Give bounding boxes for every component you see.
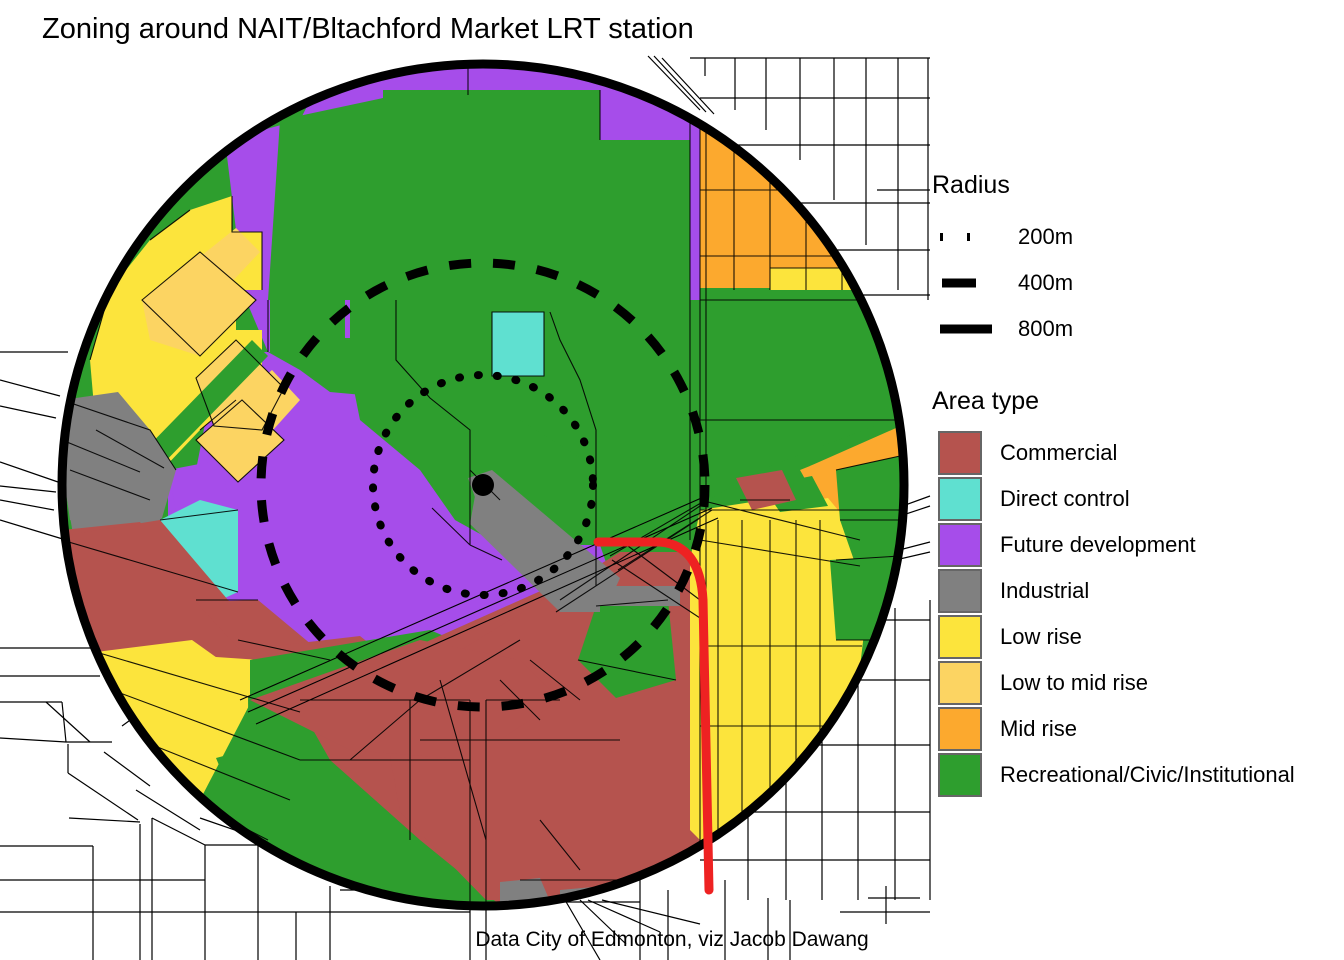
radius-legend-item-800m[interactable]: 800m	[932, 306, 1332, 352]
swatch-direct-control	[938, 477, 982, 521]
radius-legend: Radius 200m 400m	[932, 170, 1332, 352]
area-legend-item-recreational[interactable]: Recreational/Civic/Institutional	[932, 752, 1332, 798]
area-legend-label-recreational: Recreational/Civic/Institutional	[1000, 762, 1295, 788]
area-legend-label-industrial: Industrial	[1000, 578, 1089, 604]
legend-panel: Radius 200m 400m	[932, 170, 1332, 798]
area-legend-label-mid-rise: Mid rise	[1000, 716, 1077, 742]
area-legend-label-low-rise: Low rise	[1000, 624, 1082, 650]
area-legend-item-direct-control[interactable]: Direct control	[932, 476, 1332, 522]
radius-legend-label-200m: 200m	[1018, 224, 1073, 250]
source-caption: Data City of Edmonton, viz Jacob Dawang	[0, 928, 1344, 952]
swatch-low-rise	[938, 615, 982, 659]
area-legend-label-direct-control: Direct control	[1000, 486, 1130, 512]
solid-line-icon	[936, 314, 998, 344]
area-direct-control-n	[492, 312, 544, 376]
area-legend-item-future-development[interactable]: Future development	[932, 522, 1332, 568]
station-dot[interactable]	[472, 474, 494, 496]
area-legend-item-low-to-mid-rise[interactable]: Low to mid rise	[932, 660, 1332, 706]
swatch-mid-rise	[938, 707, 982, 751]
area-legend-item-low-rise[interactable]: Low rise	[932, 614, 1332, 660]
radius-legend-label-400m: 400m	[1018, 270, 1073, 296]
radius-legend-item-200m[interactable]: 200m	[932, 214, 1332, 260]
area-legend-label-future-development: Future development	[1000, 532, 1196, 558]
swatch-recreational	[938, 753, 982, 797]
swatch-future-development	[938, 523, 982, 567]
dotted-line-icon	[936, 222, 998, 252]
area-legend-item-industrial[interactable]: Industrial	[932, 568, 1332, 614]
area-low-rise-ne	[770, 268, 876, 290]
radius-legend-title: Radius	[932, 170, 1332, 200]
radius-legend-label-800m: 800m	[1018, 316, 1073, 342]
area-legend-label-commercial: Commercial	[1000, 440, 1117, 466]
map-page: Zoning around NAIT/Bltachford Market LRT…	[0, 0, 1344, 960]
area-legend-item-mid-rise[interactable]: Mid rise	[932, 706, 1332, 752]
area-legend-title: Area type	[932, 386, 1332, 416]
swatch-industrial	[938, 569, 982, 613]
radius-legend-item-400m[interactable]: 400m	[932, 260, 1332, 306]
swatch-commercial	[938, 431, 982, 475]
swatch-low-to-mid-rise	[938, 661, 982, 705]
area-legend-item-commercial[interactable]: Commercial	[932, 430, 1332, 476]
area-legend-label-low-to-mid-rise: Low to mid rise	[1000, 670, 1148, 696]
dashed-line-icon	[936, 268, 998, 298]
area-type-legend: Commercial Direct control Future develop…	[932, 430, 1332, 798]
